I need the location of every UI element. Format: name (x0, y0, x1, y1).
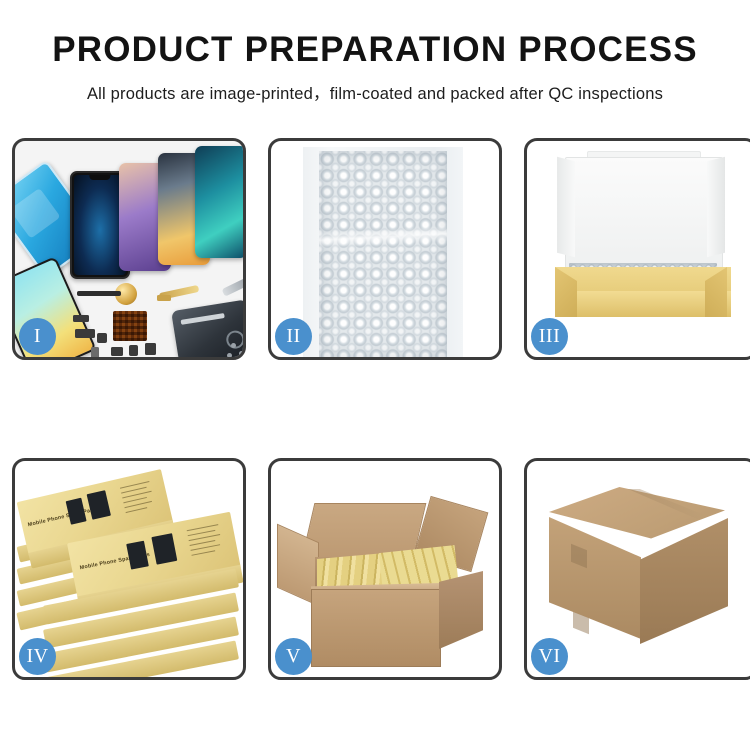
box-spec-line (191, 550, 215, 556)
box-lid-right (707, 157, 725, 257)
bubble-grid-offset (319, 151, 447, 357)
box-spec-line (191, 544, 221, 551)
box-window-icon (126, 541, 149, 570)
box-window-icon (66, 498, 87, 525)
step-panel-4[interactable]: Mobile Phone Spare Parts (12, 458, 246, 680)
notch-icon (89, 175, 110, 180)
box-lid-back (565, 157, 723, 277)
phone-teal-icon (195, 146, 243, 258)
step-panel-6[interactable]: VI (524, 458, 750, 680)
page-subtitle: All products are image-printed，film-coat… (0, 80, 750, 104)
box-window-icon (87, 490, 111, 520)
part-icon (145, 343, 156, 355)
part-icon (73, 315, 89, 322)
process-grid: I II III (12, 138, 738, 680)
page-header: PRODUCT PREPARATION PROCESS All products… (0, 0, 750, 104)
step-panel-5[interactable]: V (268, 458, 502, 680)
part-icon (111, 347, 123, 356)
antenna-strip-icon (77, 291, 121, 296)
screw-icon (227, 353, 232, 357)
step-badge-5: V (275, 638, 312, 675)
step-badge-1: I (19, 318, 56, 355)
screw-icon (231, 343, 236, 348)
step-panel-2[interactable]: II (268, 138, 502, 360)
chip-icon (113, 311, 147, 341)
part-icon (157, 295, 171, 301)
box-lid-left (557, 157, 575, 257)
phone-housing-icon (171, 299, 243, 357)
screw-icon (239, 351, 243, 356)
part-icon (75, 329, 95, 338)
step-badge-3: III (531, 318, 568, 355)
carton-left-face (549, 517, 641, 639)
step-badge-6: VI (531, 638, 568, 675)
screwdriver-icon (222, 269, 243, 296)
part-icon (97, 333, 107, 343)
part-icon (91, 347, 99, 357)
box-front-face (555, 291, 731, 317)
step-badge-2: II (275, 318, 312, 355)
box-window-icon (151, 533, 177, 564)
step-panel-1[interactable]: I (12, 138, 246, 360)
part-icon (129, 345, 138, 356)
step-panel-3[interactable]: III (524, 138, 750, 360)
step-badge-4: IV (19, 638, 56, 675)
box-label-text: Mobile Phone Spare Parts (27, 506, 98, 528)
box-spec-line (126, 507, 148, 513)
carton-front-face (311, 589, 441, 667)
spare-parts-group (71, 281, 243, 357)
carton-right-face (439, 571, 483, 649)
page-title: PRODUCT PREPARATION PROCESS (0, 32, 750, 69)
